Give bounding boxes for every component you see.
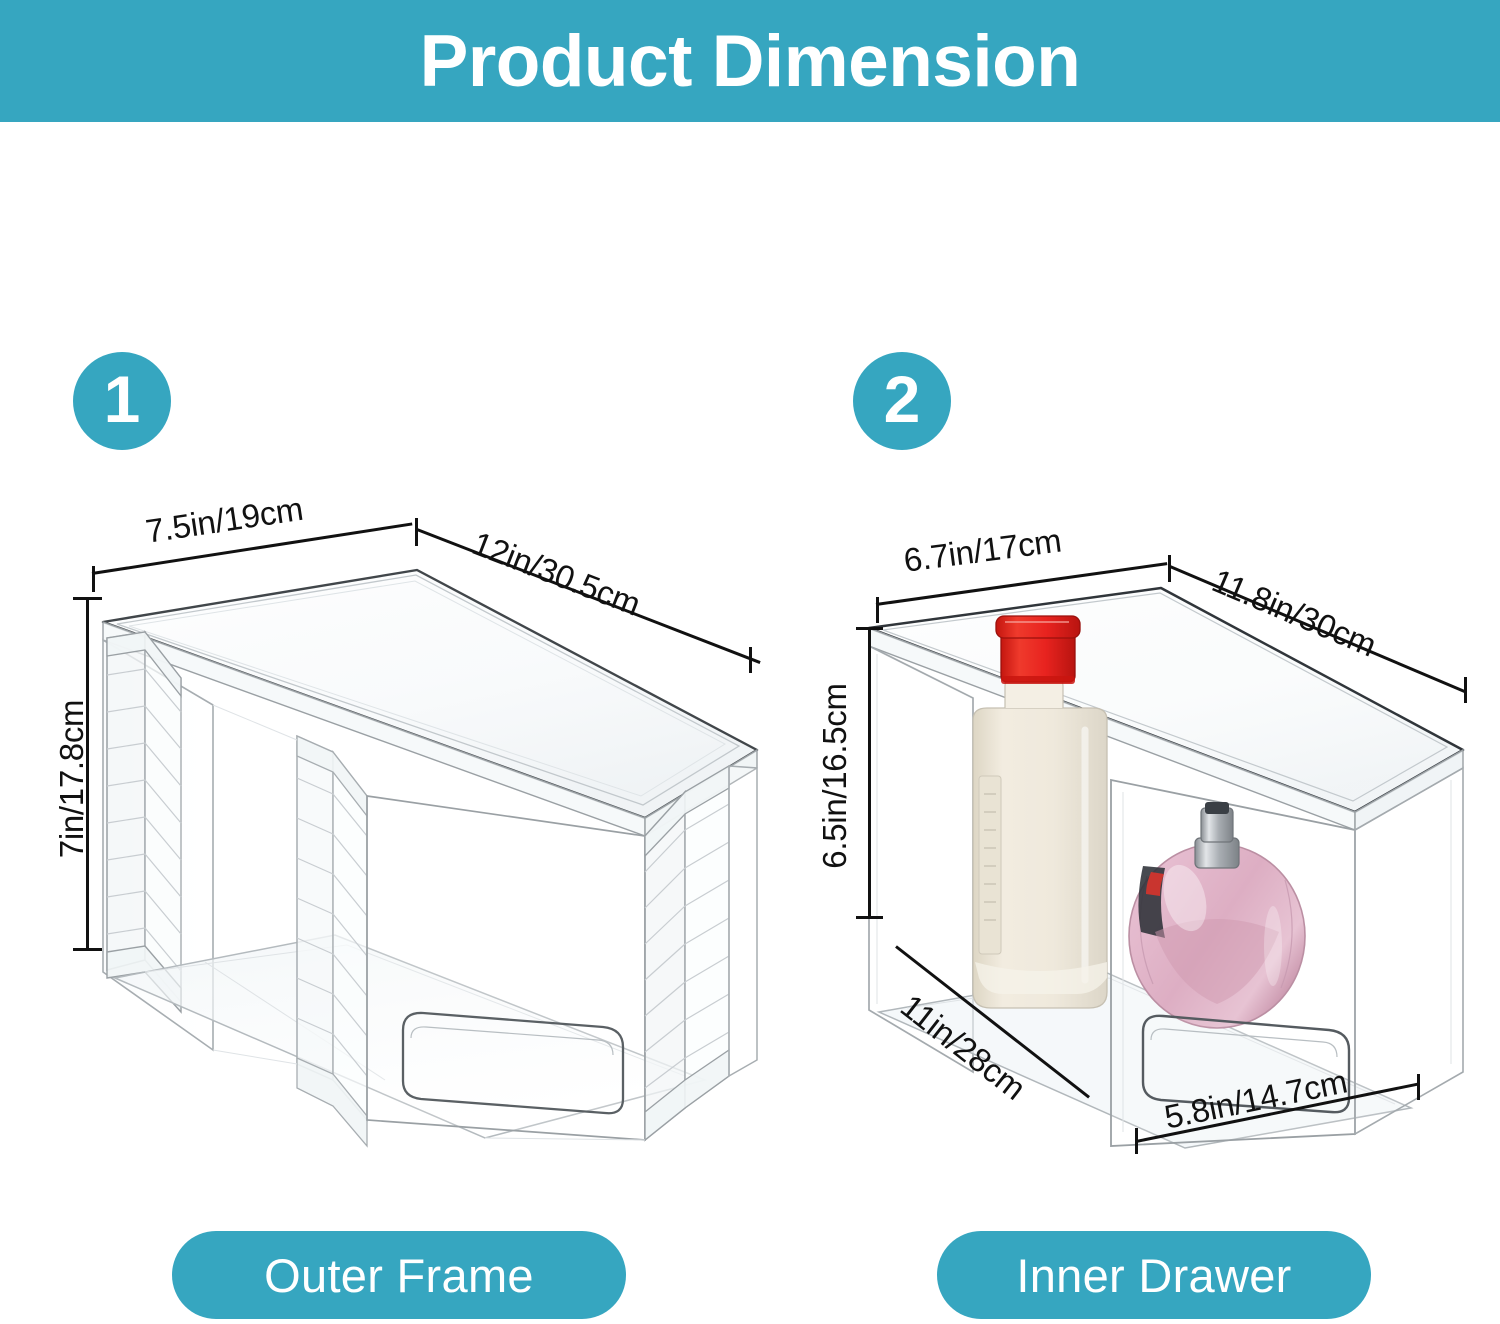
outer-frame-right-wall (729, 766, 757, 1076)
dim-tick-inner-front-right (1417, 1074, 1420, 1100)
outer-frame-right-rail (645, 766, 729, 1140)
inner-drawer-illustration (855, 580, 1475, 1160)
dim-label-inner-height: 6.5in/16.5cm (816, 631, 854, 921)
product-dimension-infographic: Product Dimension 1 2 (0, 0, 1500, 1324)
caption-outer-frame-label: Outer Frame (264, 1248, 534, 1303)
dim-tick-outer-width-right (415, 518, 418, 546)
inner-drawer-right-wall (1355, 768, 1463, 1134)
outer-frame-left-rail (107, 632, 181, 1012)
outer-frame-illustration (85, 560, 785, 1180)
caption-inner-drawer: Inner Drawer (937, 1231, 1371, 1319)
dim-tick-inner-height-bottom (856, 916, 883, 919)
dim-tick-inner-depth-far (1464, 677, 1467, 703)
step-badge-2-label: 2 (884, 366, 921, 432)
caption-inner-drawer-label: Inner Drawer (1016, 1248, 1291, 1303)
outer-frame-front-panel (367, 796, 645, 1140)
dim-tick-inner-width-left (876, 597, 879, 623)
step-badge-1: 1 (73, 352, 171, 450)
dim-label-outer-height: 7in/17.8cm (53, 649, 91, 909)
dim-tick-outer-width-left (92, 566, 95, 592)
dim-leader-inner-height (868, 628, 871, 918)
dim-tick-outer-depth-far (749, 647, 752, 673)
page-title: Product Dimension (420, 25, 1081, 98)
dim-tick-inner-height-top (856, 627, 883, 630)
step-badge-2: 2 (853, 352, 951, 450)
dim-tick-outer-height-top (73, 597, 102, 600)
caption-outer-frame: Outer Frame (172, 1231, 626, 1319)
dim-tick-inner-front-left (1135, 1128, 1138, 1154)
outer-frame-center-rail (297, 736, 367, 1146)
step-badge-1-label: 1 (104, 366, 141, 432)
dim-label-inner-width: 6.7in/17cm (902, 521, 1064, 579)
header-banner: Product Dimension (0, 0, 1500, 122)
dim-tick-outer-height-bottom (73, 948, 102, 951)
